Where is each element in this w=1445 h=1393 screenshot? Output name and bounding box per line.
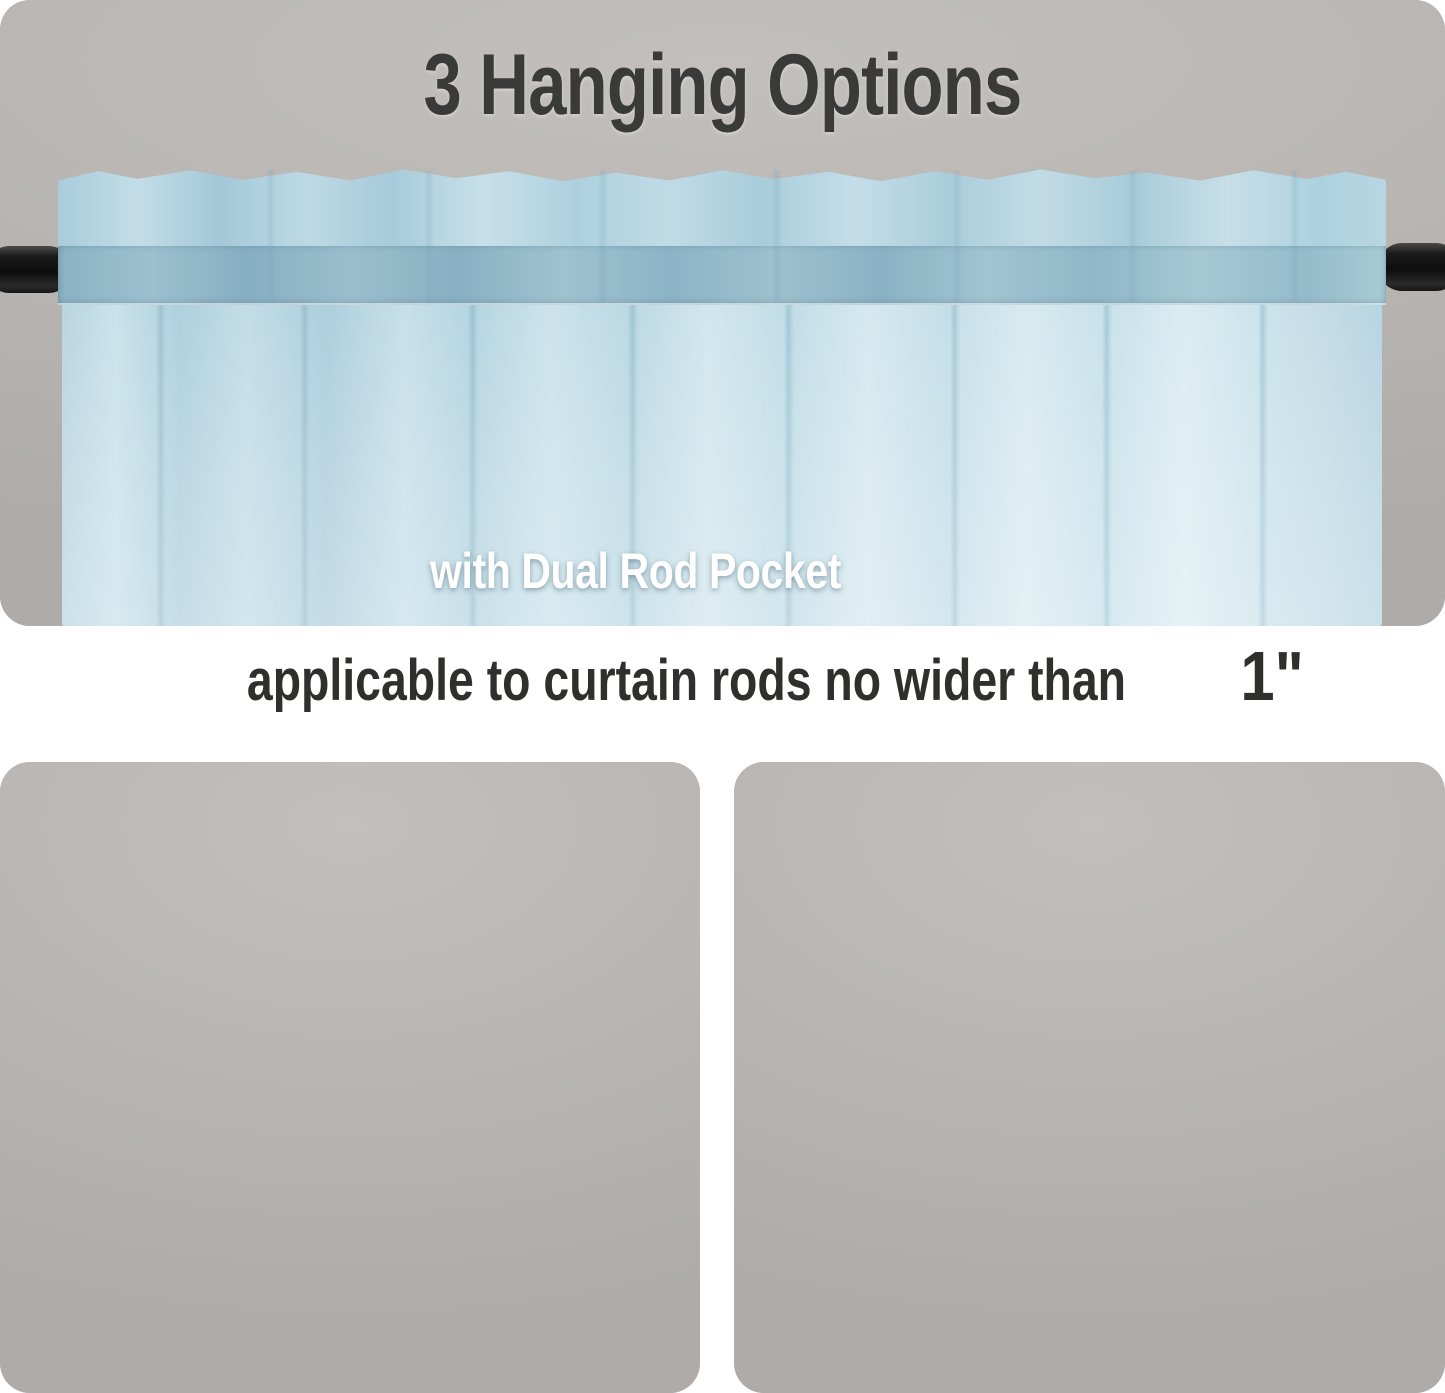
ruffle-gather (266, 170, 276, 302)
wall-background (0, 762, 700, 1393)
panel-pole-top: Pole Top -with bottom hem (0, 762, 700, 1393)
rod-pocket-upper-ruffle (58, 168, 1386, 246)
fabric-pleat (950, 296, 960, 626)
infographic-root: 3 Hanging Options with Dual Ro (0, 0, 1445, 1393)
ruffle-gather (1128, 170, 1138, 302)
rod-pocket-seam-bottom (58, 303, 1386, 305)
ruffle-gather (952, 170, 962, 302)
fabric-pleat (1258, 296, 1268, 626)
caption-dual-rod-pocket: with Dual Rod Pocket (430, 543, 841, 599)
rod-width-note: applicable to curtain rods no wider than… (0, 641, 1445, 716)
panel-clips: with Clips(not included) (734, 762, 1445, 1393)
fabric-pleat (1102, 296, 1112, 626)
rod-pocket-channel (58, 243, 1386, 305)
ruffle-gather (772, 170, 782, 302)
fabric-pleat (300, 296, 310, 626)
curtain-rod-right-stub (1378, 243, 1445, 291)
fabric-pleat (156, 296, 166, 626)
rod-width-note-text: applicable to curtain rods no wider than (247, 646, 1126, 716)
ruffle-gather (598, 170, 608, 302)
rod-width-measurement: 1" (1240, 641, 1303, 711)
ruffle-gather (1290, 170, 1300, 302)
wall-background (734, 762, 1445, 1393)
panel-dual-rod-pocket: 3 Hanging Options with Dual Ro (0, 0, 1445, 626)
page-title: 3 Hanging Options (145, 38, 1301, 132)
ruffle-gather (424, 170, 434, 302)
